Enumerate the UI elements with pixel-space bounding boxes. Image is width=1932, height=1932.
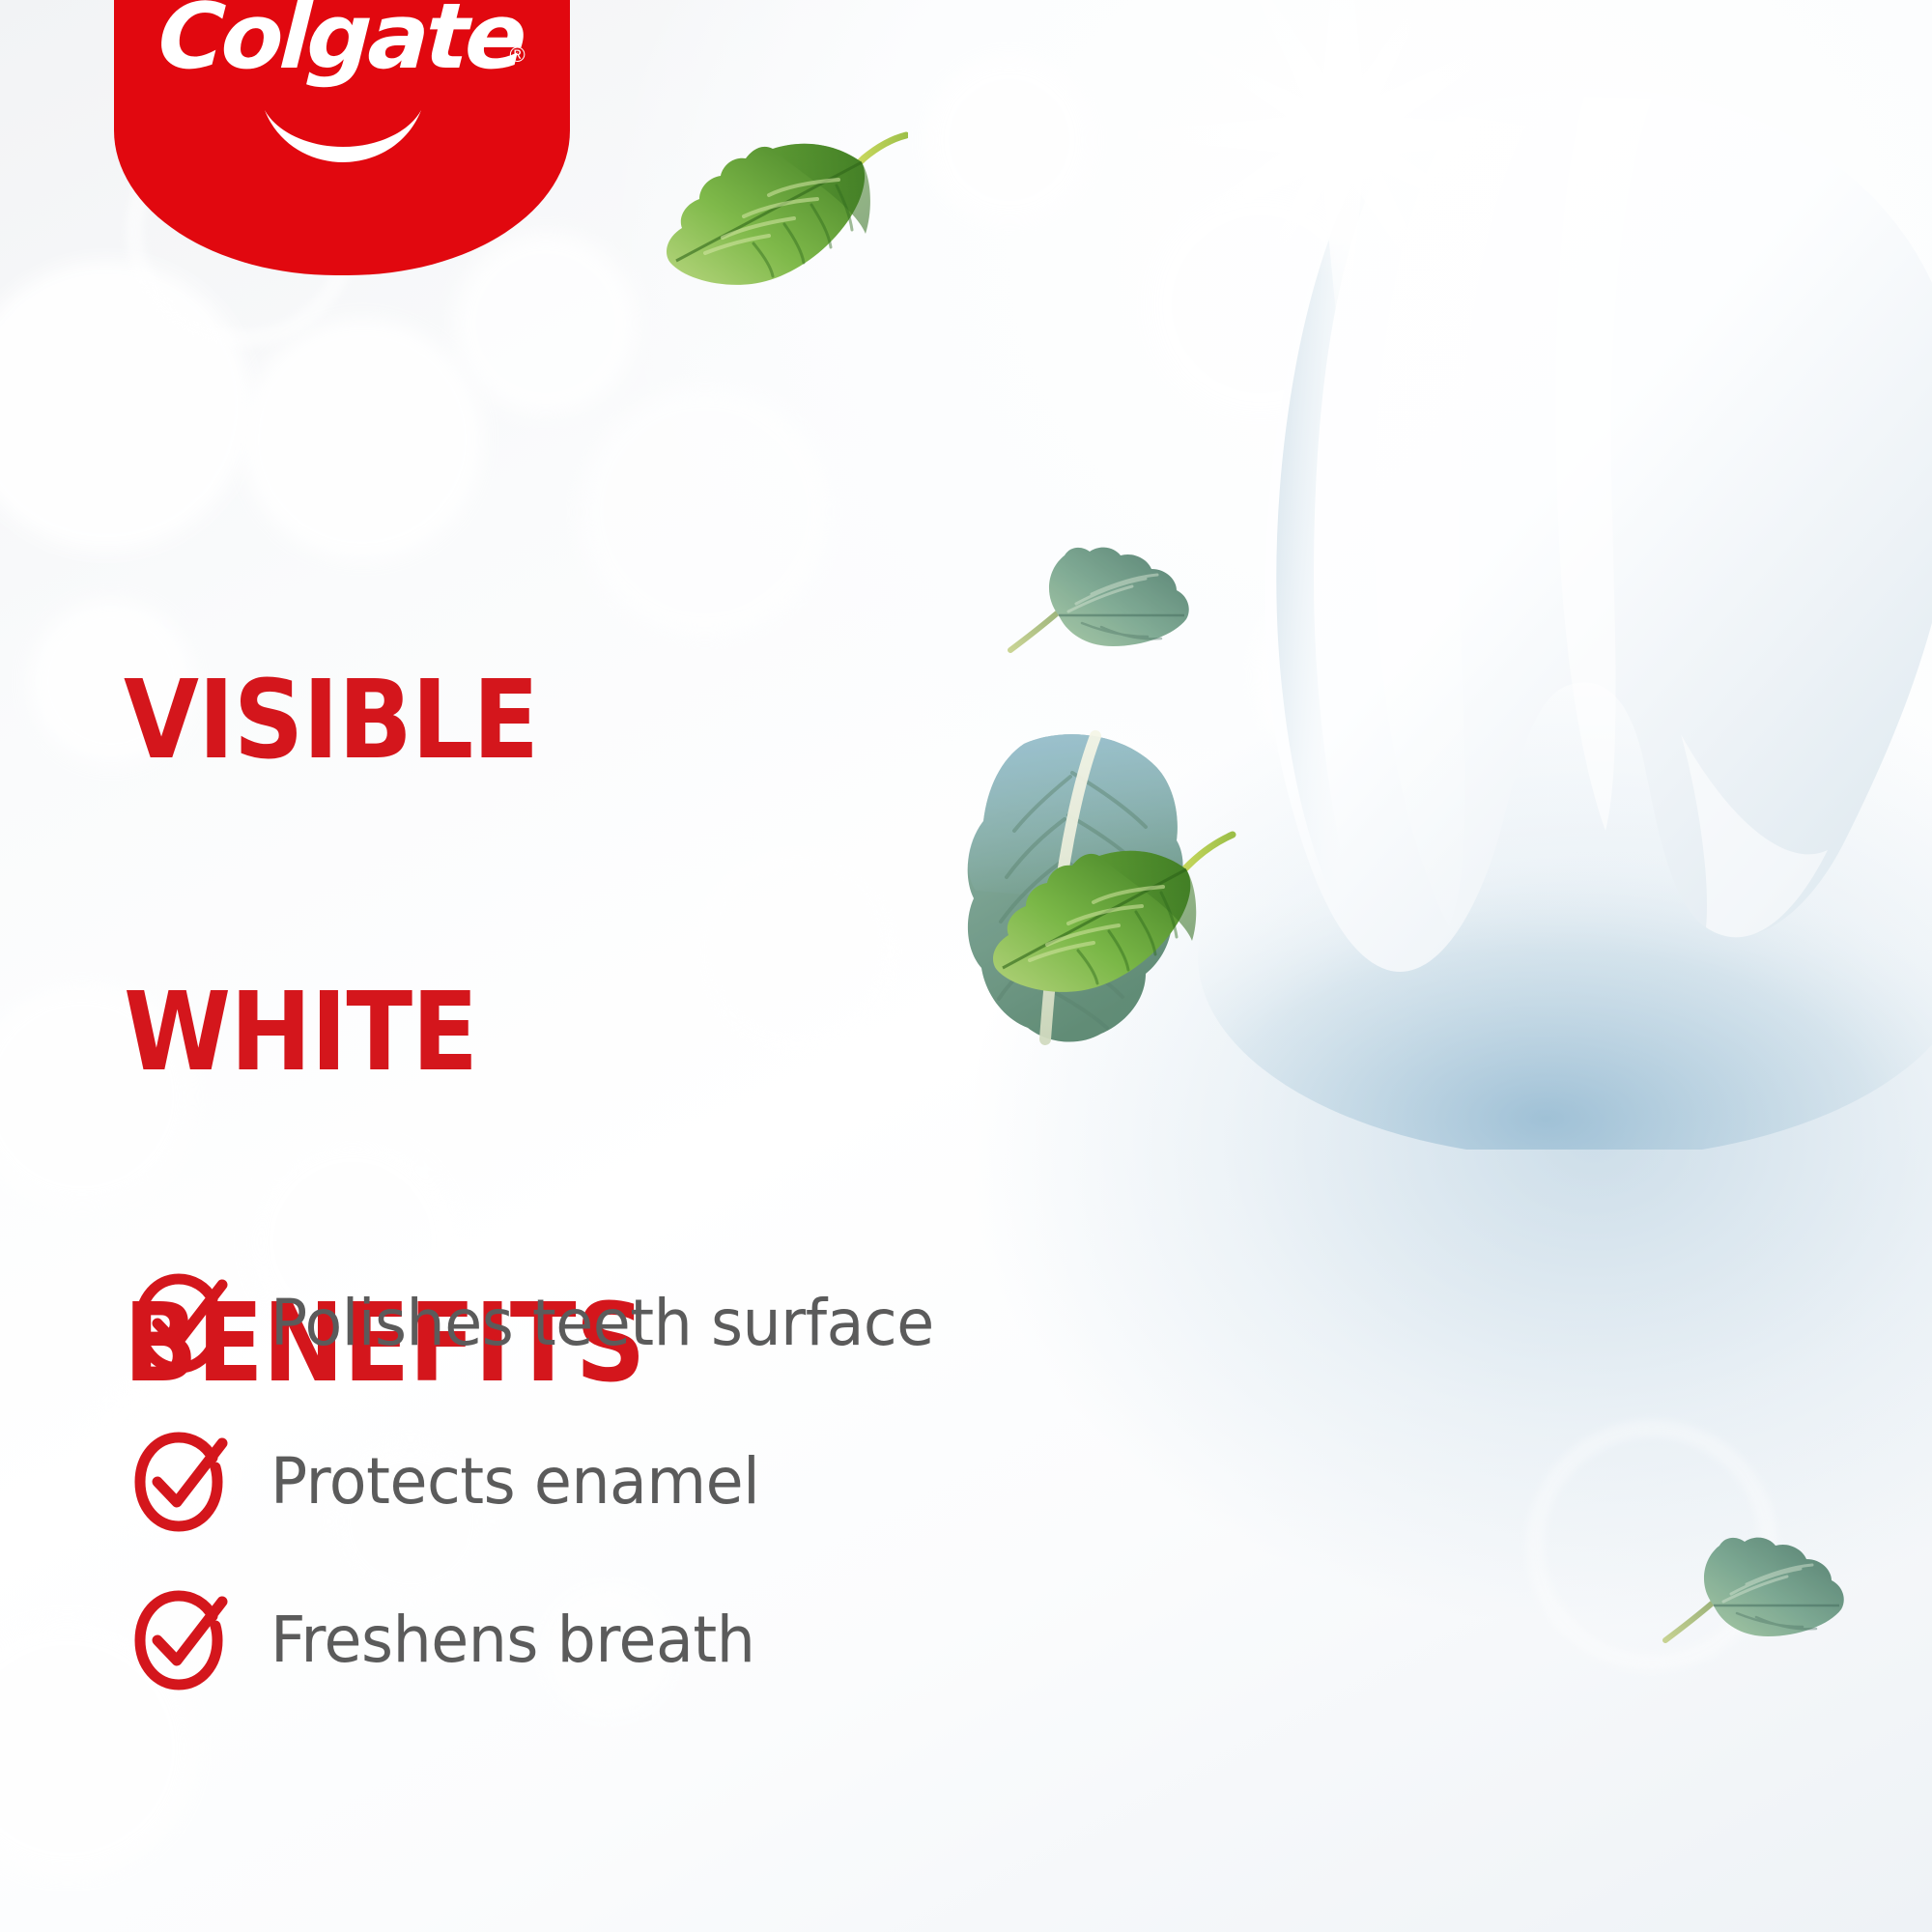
colgate-wordmark-text: Colgate	[156, 0, 526, 83]
promo-canvas: Colgate® VISIBLE WHITE BENEFITS Polishes…	[0, 0, 1932, 1932]
mint-leaf-mid-small	[1005, 536, 1198, 662]
list-item: Protects enamel	[129, 1403, 1192, 1561]
benefit-label: Polishes teeth surface	[270, 1292, 934, 1355]
benefit-list: Polishes teeth surface Protects enamel F…	[129, 1244, 1192, 1719]
bokeh-circle	[1391, 116, 1652, 377]
benefit-label: Protects enamel	[270, 1450, 759, 1514]
bokeh-ring	[1526, 1420, 1777, 1671]
colgate-wordmark: Colgate®	[114, 0, 570, 83]
headline-line-1: VISIBLE	[124, 669, 644, 774]
bokeh-circle	[927, 58, 1092, 222]
list-item: Freshens breath	[129, 1561, 1192, 1719]
colgate-logo-badge: Colgate®	[114, 0, 570, 275]
red-check-circle-icon	[129, 1432, 230, 1532]
bokeh-circle	[1256, 580, 1449, 773]
mint-leaf-lower	[966, 821, 1236, 1005]
list-item: Polishes teeth surface	[129, 1244, 1192, 1403]
red-check-circle-icon	[129, 1273, 230, 1374]
benefit-label: Freshens breath	[270, 1608, 754, 1672]
red-check-circle-icon	[129, 1590, 230, 1690]
mint-leaf-top	[638, 116, 908, 299]
bokeh-circle	[454, 232, 638, 415]
mint-leaf-center-large	[956, 715, 1188, 1048]
smile-swoosh-icon	[261, 106, 425, 168]
headline-line-2: WHITE	[124, 981, 644, 1086]
bokeh-circle	[1150, 193, 1372, 415]
bokeh-ring	[696, 850, 898, 1053]
